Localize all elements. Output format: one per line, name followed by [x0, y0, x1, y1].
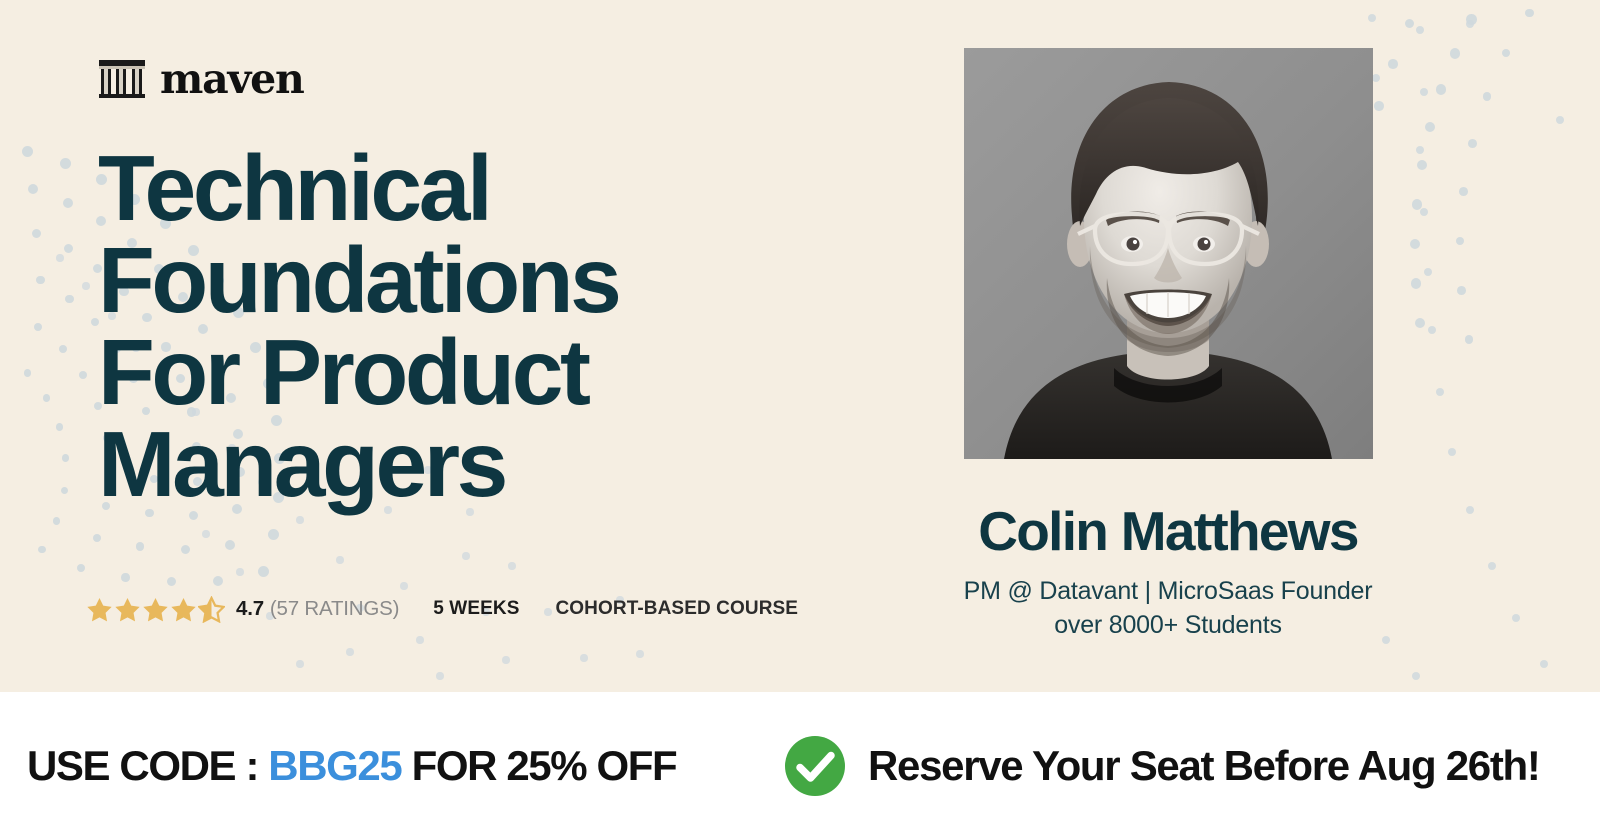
decorative-dot: [36, 276, 44, 284]
star-full-icon: [86, 596, 113, 623]
decorative-dot: [34, 323, 42, 331]
decorative-dot: [56, 423, 64, 431]
decorative-dot: [121, 573, 129, 581]
promo-suffix: FOR 25% OFF: [401, 742, 676, 789]
decorative-dot: [24, 369, 32, 377]
decorative-dot: [636, 650, 643, 657]
page-title: Technical Foundations For Product Manage…: [98, 142, 888, 510]
decorative-dot: [1420, 88, 1429, 97]
course-promo-ad: maven Technical Foundations For Product …: [0, 0, 1600, 840]
promo-banner: USE CODE : BBG25 FOR 25% OFF Reserve You…: [0, 692, 1600, 840]
rating-value: 4.7: [236, 597, 264, 621]
decorative-dot: [63, 198, 73, 208]
decorative-dot: [336, 556, 343, 563]
decorative-dot: [1416, 26, 1425, 35]
instructor-role: PM @ Datavant | MicroSaas Founder: [918, 575, 1418, 609]
decorative-dot: [1428, 326, 1437, 335]
decorative-dot: [502, 656, 509, 663]
decorative-dot: [400, 582, 407, 589]
deadline-callout: Reserve Your Seat Before Aug 26th!: [784, 735, 1540, 797]
decorative-dot: [1436, 388, 1445, 397]
decorative-dot: [167, 577, 176, 586]
decorative-dot: [236, 568, 243, 575]
decorative-dot: [508, 562, 515, 569]
decorative-dot: [1368, 14, 1377, 23]
promo-code-text: USE CODE : BBG25 FOR 25% OFF: [27, 742, 676, 790]
decorative-dot: [580, 654, 587, 661]
decorative-dot: [60, 158, 71, 169]
decorative-dot: [225, 540, 235, 550]
instructor-students: over 8000+ Students: [918, 609, 1418, 643]
decorative-dot: [346, 648, 353, 655]
star-rating: [86, 596, 225, 623]
decorative-dot: [213, 576, 223, 586]
course-info-column: maven Technical Foundations For Product …: [98, 56, 888, 510]
decorative-dot: [296, 660, 303, 667]
decorative-dot: [64, 244, 73, 253]
decorative-dot: [1466, 20, 1475, 29]
decorative-dot: [79, 371, 87, 379]
decorative-dot: [1417, 160, 1427, 170]
course-format: COHORT-BASED COURSE: [555, 598, 798, 620]
instructor-photo: [964, 48, 1373, 459]
decorative-dot: [82, 282, 89, 289]
decorative-dot: [1466, 506, 1475, 515]
decorative-dot: [268, 529, 279, 540]
decorative-dot: [1483, 92, 1492, 101]
check-circle-icon: [784, 735, 846, 797]
decorative-dot: [1457, 286, 1466, 295]
decorative-dot: [181, 545, 190, 554]
decorative-dot: [77, 564, 85, 572]
pillars-icon: [98, 58, 146, 100]
decorative-dot: [1465, 335, 1474, 344]
decorative-dot: [59, 345, 67, 353]
decorative-dot: [1436, 84, 1446, 94]
star-full-icon: [170, 596, 197, 623]
decorative-dot: [61, 487, 69, 495]
decorative-dot: [1512, 614, 1521, 623]
star-half-icon: [198, 596, 225, 623]
decorative-dot: [1456, 237, 1465, 246]
decorative-dot: [53, 517, 61, 525]
decorative-dot: [28, 184, 38, 194]
decorative-dot: [296, 516, 303, 523]
decorative-dot: [1466, 14, 1476, 24]
decorative-dot: [1525, 9, 1534, 18]
decorative-dot: [43, 394, 51, 402]
decorative-dot: [1412, 672, 1421, 681]
decorative-dot: [416, 636, 423, 643]
decorative-dot: [56, 254, 63, 261]
deadline-text: Reserve Your Seat Before Aug 26th!: [868, 742, 1540, 790]
decorative-dot: [93, 534, 101, 542]
promo-code: BBG25: [268, 742, 401, 789]
decorative-dot: [1556, 116, 1565, 125]
course-meta-row: 4.7 (57 RATINGS) 5 WEEKS COHORT-BASED CO…: [86, 592, 798, 626]
promo-prefix: USE CODE :: [27, 742, 268, 789]
decorative-dot: [1502, 49, 1511, 58]
decorative-dot: [65, 295, 73, 303]
rating-count: (57 RATINGS): [270, 597, 399, 621]
decorative-dot: [22, 146, 33, 157]
decorative-dot: [38, 546, 46, 554]
decorative-dot: [258, 566, 269, 577]
decorative-dot: [1420, 208, 1429, 217]
decorative-dot: [1540, 660, 1549, 669]
decorative-dot: [1448, 448, 1457, 457]
title-line-3: For Product: [98, 326, 888, 418]
title-line-2: Foundations: [98, 234, 888, 326]
course-duration: 5 WEEKS: [433, 598, 519, 620]
instructor-name: Colin Matthews: [918, 504, 1418, 559]
star-full-icon: [142, 596, 169, 623]
decorative-dot: [1468, 139, 1477, 148]
decorative-dot: [32, 229, 41, 238]
decorative-dot: [1450, 48, 1460, 58]
decorative-dot: [136, 542, 144, 550]
star-full-icon: [114, 596, 141, 623]
decorative-dot: [1425, 122, 1435, 132]
decorative-dot: [202, 530, 209, 537]
decorative-dot: [1459, 187, 1468, 196]
decorative-dot: [1405, 19, 1415, 29]
decorative-dot: [462, 552, 469, 559]
title-line-1: Technical: [98, 142, 888, 234]
decorative-dot: [62, 454, 70, 462]
decorative-dot: [1488, 562, 1497, 571]
instructor-column: Colin Matthews PM @ Datavant | MicroSaas…: [918, 48, 1418, 643]
maven-logo[interactable]: maven: [98, 56, 888, 102]
decorative-dot: [436, 672, 443, 679]
hero-section: maven Technical Foundations For Product …: [0, 0, 1600, 692]
decorative-dot: [1424, 268, 1433, 277]
title-line-4: Managers: [98, 418, 888, 510]
maven-wordmark: maven: [160, 59, 304, 100]
